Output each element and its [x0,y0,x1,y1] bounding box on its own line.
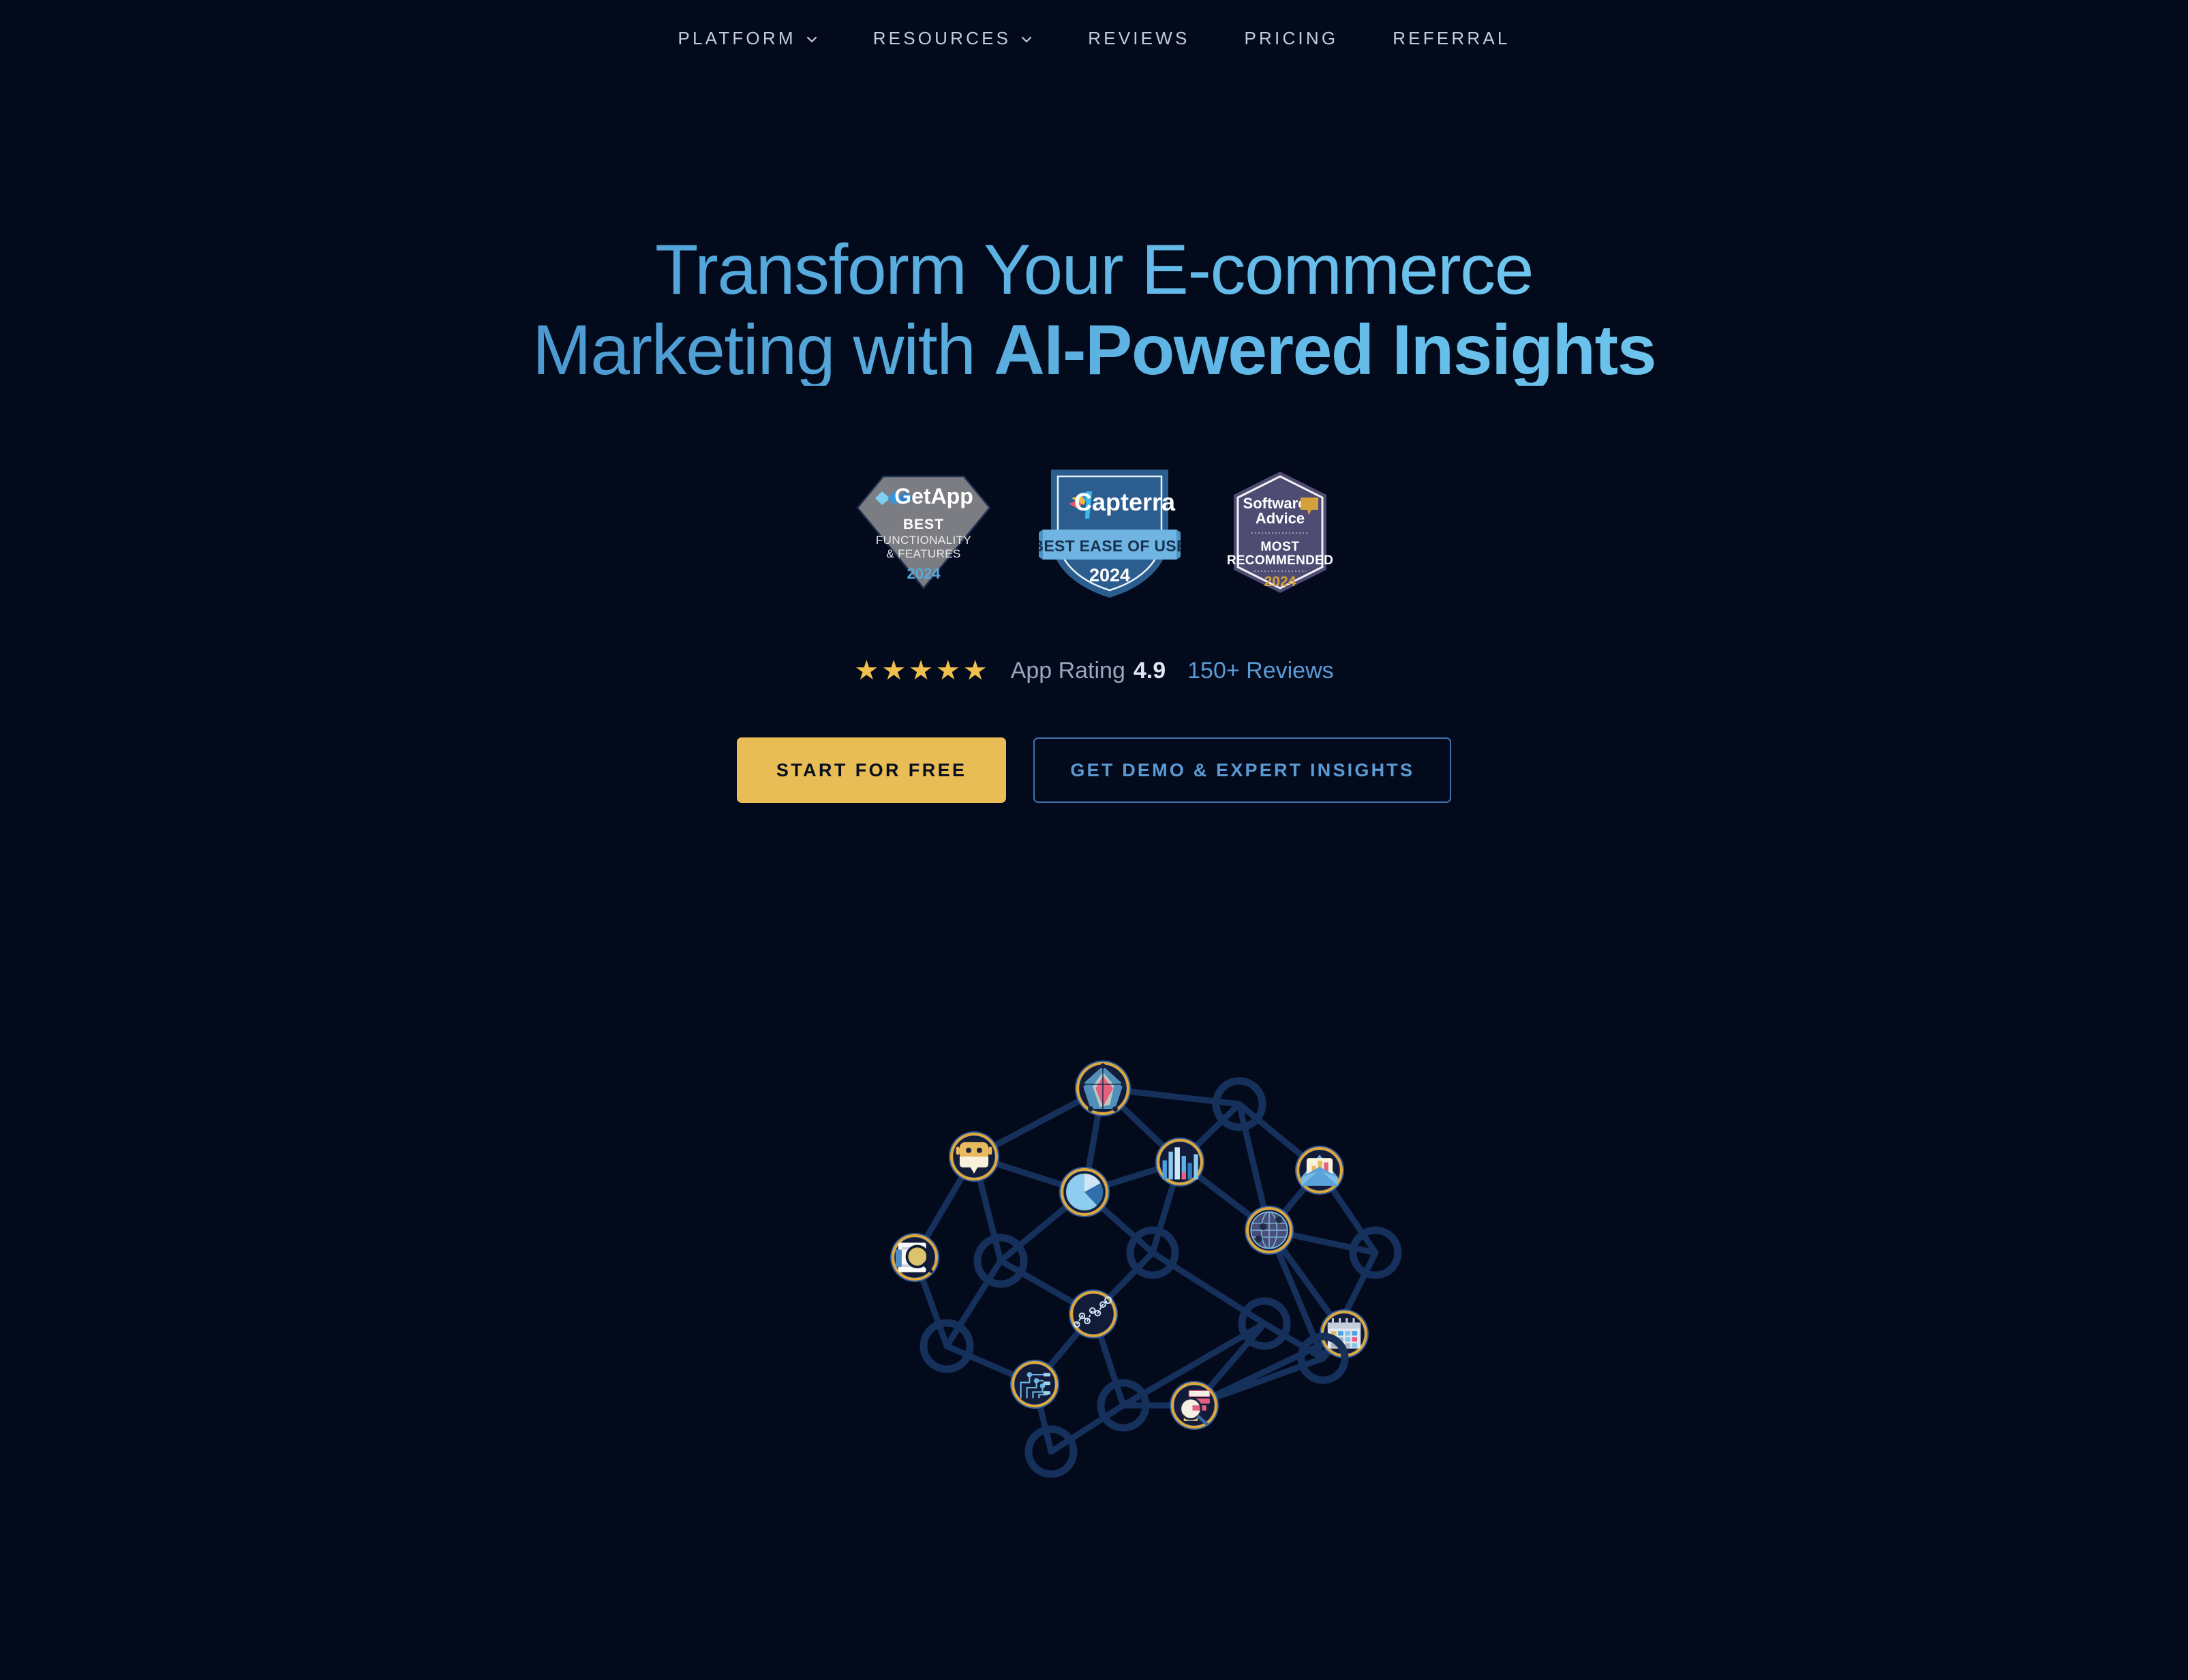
star-icon: ★ [881,657,906,684]
empty-node-icon [1101,1383,1146,1428]
svg-text:& FEATURES: & FEATURES [886,547,960,560]
network-edge [1180,1104,1239,1162]
network-edge [1269,1230,1376,1253]
svg-text:2024: 2024 [1089,565,1130,585]
empty-node-icon [1242,1301,1287,1346]
node-outer-ring [1075,1060,1131,1116]
badge-getapp[interactable]: GetApp BEST FUNCTIONALITY & FEATURES 202… [848,464,999,600]
network-node-robot[interactable] [949,1131,999,1182]
calendar-icon [1328,1318,1361,1349]
network-edge [1323,1334,1344,1358]
empty-node-icon [1301,1337,1345,1380]
document-search-icon [896,1242,931,1272]
node-gold-ring [952,1134,997,1179]
audience-target-icon [1181,1390,1210,1424]
node-outer-ring [1059,1167,1110,1217]
nav-item-resources[interactable]: RESOURCES [846,28,1061,49]
nav-item-pricing[interactable]: PRICING [1217,28,1366,49]
ai-network-graphic [0,849,2188,1680]
network-edge [1269,1230,1344,1334]
network-edge [1194,1334,1344,1405]
network-edge [1051,1405,1123,1452]
network-edge [1194,1324,1264,1405]
node-inner-fill [1324,1314,1365,1354]
getapp-badge-icon: GetApp BEST FUNCTIONALITY & FEATURES 202… [848,464,999,600]
nav-item-label: PLATFORM [678,28,795,49]
reviews-link[interactable]: 150+ Reviews [1187,658,1334,684]
node-gold-ring [1158,1140,1202,1184]
empty-node-icon [1353,1230,1398,1275]
network-edge [1123,1324,1264,1405]
network-node-empty8[interactable] [1101,1383,1146,1428]
hero-section: Transform Your E-commerce Marketing with… [0,76,2188,803]
award-badges: GetApp BEST FUNCTIONALITY & FEATURES 202… [0,461,2188,604]
network-edge [1153,1162,1180,1253]
network-node-empty6[interactable] [924,1323,970,1369]
star-icon: ★ [854,657,879,684]
network-node-search[interactable] [890,1233,939,1282]
chevron-down-icon[interactable] [1020,33,1033,46]
nav-item-label: REVIEWS [1088,28,1189,49]
node-gold-ring [893,1236,937,1279]
radar-chart-icon [1080,1063,1126,1112]
empty-node-icon [924,1323,970,1369]
svg-text:2024: 2024 [907,565,941,582]
svg-text:MOST: MOST [1260,540,1299,554]
bar-chart-icon [1163,1147,1198,1179]
network-edge [1103,1088,1239,1104]
nav-item-label: REFERRAL [1393,28,1510,49]
network-edge [1194,1358,1323,1405]
node-gold-ring [1062,1170,1107,1215]
network-edge [974,1157,1001,1261]
node-gold-ring [1013,1362,1057,1406]
nav-item-referral[interactable]: REFERRAL [1365,28,1537,49]
network-nodes [890,1060,1398,1474]
headline-line-1: Transform Your E-commerce [0,234,2188,305]
network-node-globe[interactable] [1245,1206,1294,1255]
nav-item-label: PRICING [1245,28,1339,49]
get-demo-button[interactable]: GET DEMO & EXPERT INSIGHTS [1033,737,1451,803]
network-edge [1320,1170,1376,1253]
network-node-empty4[interactable] [1353,1230,1398,1275]
node-outer-ring [949,1131,999,1182]
network-node-audience[interactable] [1170,1381,1219,1430]
star-icon: ★ [936,657,960,684]
network-node-empty9[interactable] [1029,1429,1074,1474]
app-rating-row: ★ ★ ★ ★ ★ App Rating 4.9 150+ Reviews [0,657,2188,684]
network-node-empty2[interactable] [977,1238,1024,1284]
empty-node-icon [1130,1230,1175,1275]
node-inner-fill [1074,1294,1114,1334]
node-gold-ring [1172,1384,1216,1427]
email-analytics-icon [1301,1155,1337,1186]
capterra-badge-icon: Capterra BEST EASE OF USE 2024 [1039,461,1181,603]
network-node-circuit[interactable] [1010,1360,1059,1409]
cta-button-group: START FOR FREE GET DEMO & EXPERT INSIGHT… [0,737,2188,803]
nav-item-reviews[interactable]: REVIEWS [1061,28,1217,49]
empty-node-icon [977,1238,1024,1284]
network-edge [1084,1192,1153,1253]
network-edge [1001,1261,1093,1314]
node-outer-ring [890,1233,939,1282]
network-edge [1035,1314,1093,1384]
network-edge [915,1157,974,1257]
network-node-calendar[interactable] [1320,1309,1369,1358]
chatbot-robot-icon [956,1142,992,1174]
circuit-ai-icon [1021,1372,1050,1398]
network-edge [1035,1384,1051,1452]
star-icon: ★ [909,657,933,684]
start-for-free-button[interactable]: START FOR FREE [737,737,1007,803]
node-outer-ring [1170,1381,1219,1430]
svg-text:BEST EASE OF USE: BEST EASE OF USE [1039,537,1181,555]
node-outer-ring [1320,1309,1369,1358]
network-node-pie[interactable] [1059,1167,1110,1217]
scatter-trend-icon [1074,1297,1111,1327]
headline-line-2-bold: AI-Powered Insights [994,311,1656,390]
globe-network-icon [1251,1212,1287,1248]
badge-capterra[interactable]: Capterra BEST EASE OF USE 2024 [1039,461,1181,603]
network-svg [583,849,1605,1680]
network-edge [1084,1162,1180,1192]
svg-text:2024: 2024 [1264,574,1296,590]
main-navigation: PLATFORM RESOURCES REVIEWS PRICING REFER… [0,0,2188,76]
svg-text:Advice: Advice [1256,510,1305,527]
page-title: Transform Your E-commerce Marketing with… [0,234,2188,386]
star-rating: ★ ★ ★ ★ ★ [854,657,987,684]
node-gold-ring [1247,1208,1291,1252]
network-edge [1269,1170,1320,1230]
node-outer-ring [1069,1289,1118,1339]
network-edge [1180,1162,1269,1230]
empty-node-icon [1029,1429,1074,1474]
network-node-bars[interactable] [1155,1137,1204,1187]
network-edge [1103,1088,1180,1162]
network-edge [1269,1230,1323,1358]
svg-text:RECOMMENDED: RECOMMENDED [1227,553,1333,568]
software-advice-badge-icon: Software Advice MOST RECOMMENDED 2024 [1220,468,1340,597]
svg-text:GetApp: GetApp [894,484,973,508]
svg-text:FUNCTIONALITY: FUNCTIONALITY [876,534,971,547]
network-node-empty1[interactable] [1216,1081,1262,1127]
network-edge [1323,1253,1376,1358]
chevron-down-icon[interactable] [805,33,819,46]
network-edge [1001,1192,1084,1261]
network-node-empty7[interactable] [1301,1337,1345,1380]
network-edge [1239,1104,1320,1170]
pie-chart-icon [1065,1173,1103,1210]
nav-item-platform[interactable]: PLATFORM [650,28,845,49]
node-outer-ring [1295,1146,1344,1195]
node-inner-fill [954,1136,995,1178]
node-gold-ring [1298,1148,1341,1192]
headline-line-2: Marketing with AI-Powered Insights [0,315,2188,386]
network-edge [1239,1104,1269,1230]
star-icon: ★ [963,657,988,684]
network-edge [1093,1253,1153,1314]
network-edge [947,1261,1001,1346]
node-outer-ring [1245,1206,1294,1255]
network-edge [1264,1324,1323,1358]
network-edge [915,1257,947,1346]
network-node-empty3[interactable] [1130,1230,1175,1275]
node-gold-ring [1072,1292,1115,1336]
network-edge [1084,1088,1103,1192]
rating-value: 4.9 [1134,658,1166,684]
headline-line-2-regular: Marketing with [532,311,994,390]
node-gold-ring [1078,1063,1128,1114]
badge-software-advice[interactable]: Software Advice MOST RECOMMENDED 2024 [1220,468,1340,597]
network-node-radar[interactable] [1075,1060,1131,1116]
node-inner-fill [1300,1150,1340,1191]
node-inner-fill [1249,1210,1290,1251]
network-edge [974,1157,1084,1192]
node-outer-ring [1155,1137,1204,1187]
svg-text:Capterra: Capterra [1074,488,1176,516]
node-outer-ring [1010,1360,1059,1409]
rating-label: App Rating [1011,658,1125,684]
network-node-scatter[interactable] [1069,1289,1118,1339]
network-edge [947,1346,1035,1384]
node-gold-ring [1322,1312,1366,1356]
network-edge [1093,1314,1123,1405]
network-edge [974,1088,1103,1157]
node-inner-fill [895,1238,935,1278]
empty-node-icon [1216,1081,1262,1127]
node-inner-fill [1015,1364,1055,1405]
network-edge [1153,1253,1264,1324]
node-inner-fill [1080,1065,1127,1112]
network-edges [915,1088,1376,1452]
node-inner-fill [1174,1386,1215,1426]
node-inner-fill [1064,1172,1106,1213]
network-node-email[interactable] [1295,1146,1344,1195]
svg-text:BEST: BEST [903,517,944,532]
nav-item-label: RESOURCES [873,28,1012,49]
network-node-empty5[interactable] [1242,1301,1287,1346]
node-inner-fill [1160,1142,1200,1182]
